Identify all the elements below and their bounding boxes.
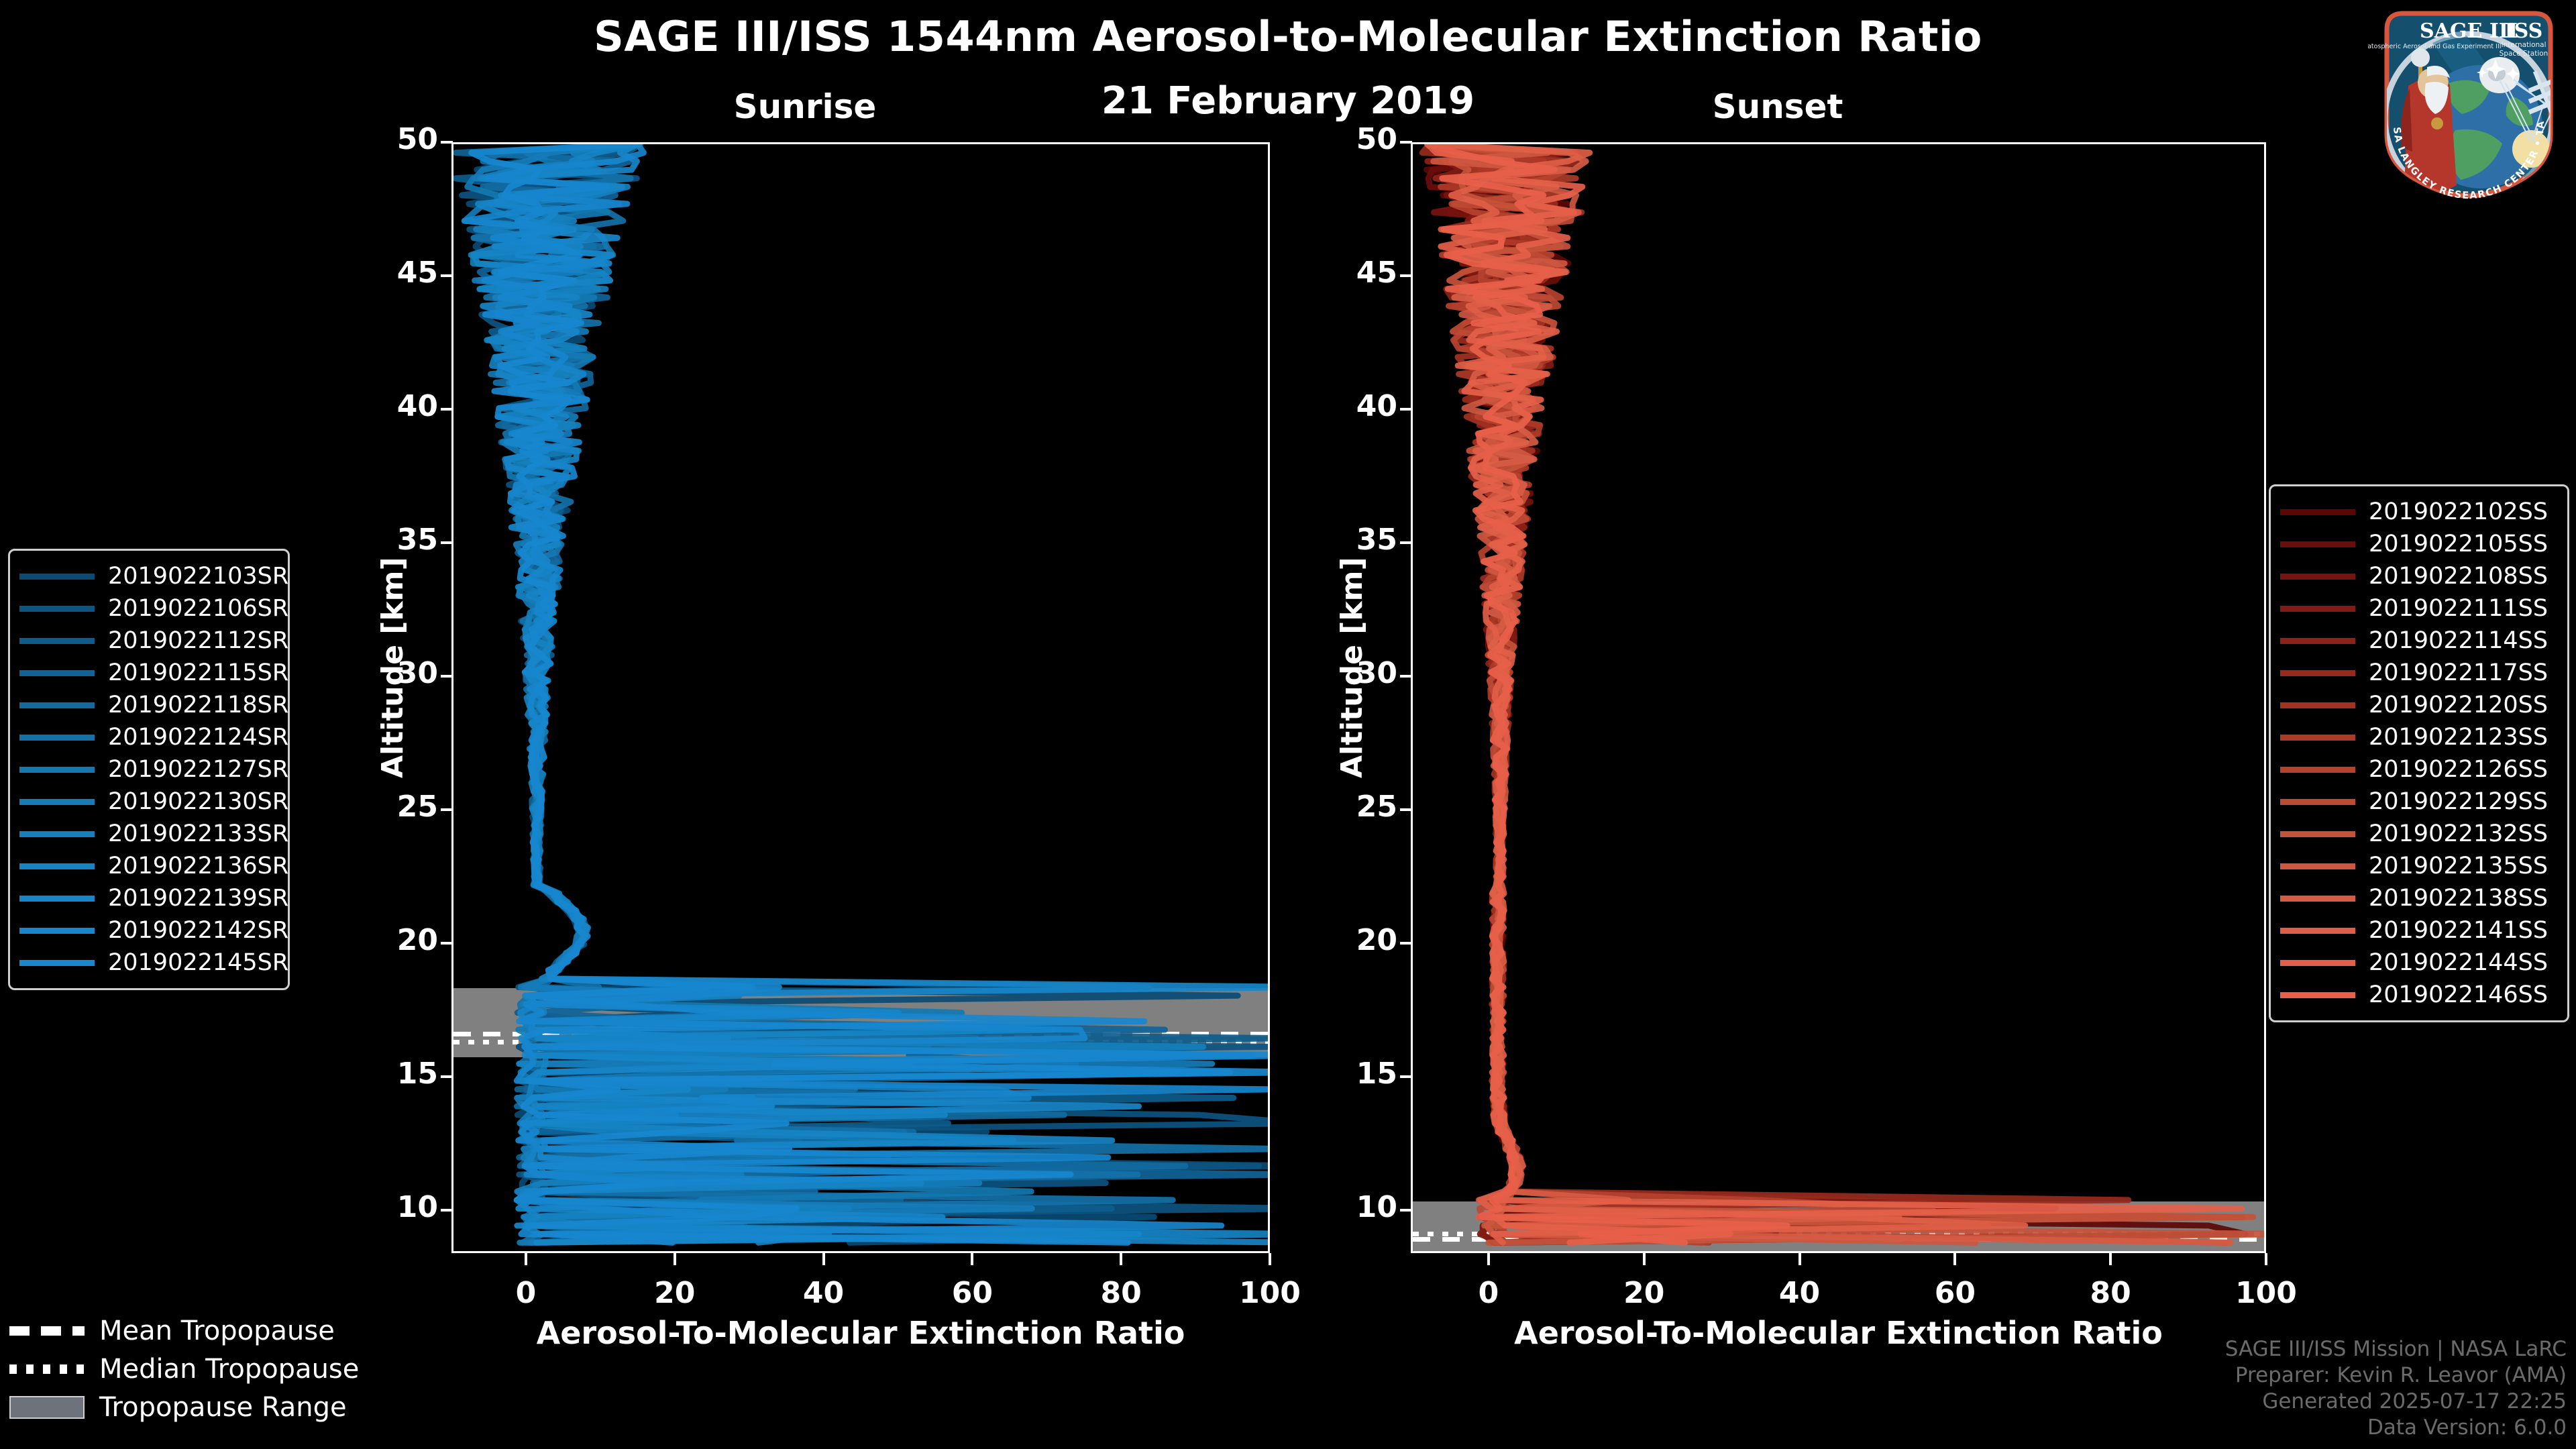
legend-item-label: 2019022117SS	[2369, 659, 2548, 686]
legend-item[interactable]: 2019022111SS	[2280, 592, 2554, 625]
legend-item-label: 2019022111SS	[2369, 595, 2548, 622]
y-axis-tick-label-ss: 45	[1324, 256, 1397, 290]
legend-color-swatch	[2280, 638, 2355, 644]
y-axis-tick-mark	[1400, 141, 1412, 144]
legend-item[interactable]: 2019022127SR	[19, 753, 274, 786]
legend-item[interactable]: 2019022124SR	[19, 721, 274, 753]
x-axis-tick-label-ss: 60	[1915, 1276, 1995, 1310]
logo-subtitle-right-2: Space Station	[2500, 50, 2548, 58]
legend-item[interactable]: 2019022117SS	[2280, 657, 2554, 689]
legend-item-label: 2019022133SR	[108, 820, 288, 847]
plot-area-sunrise	[451, 142, 1270, 1253]
legend-item[interactable]: 2019022139SR	[19, 882, 274, 914]
legend-item[interactable]: 2019022144SS	[2280, 947, 2554, 979]
x-axis-tick-label-sr: 80	[1081, 1276, 1161, 1310]
y-axis-tick-label-sr: 15	[364, 1057, 438, 1091]
y-axis-tick-label-ss: 20	[1324, 923, 1397, 957]
footer-line-version: Data Version: 6.0.0	[2225, 1415, 2567, 1441]
x-axis-tick-label-ss: 80	[2070, 1276, 2151, 1310]
legend-color-swatch	[19, 606, 95, 612]
tropopause-legend-swatch-box	[9, 1396, 85, 1419]
y-axis-tick-mark	[1400, 675, 1412, 678]
legend-item[interactable]: 2019022102SS	[2280, 496, 2554, 528]
legend-color-swatch	[2280, 606, 2355, 612]
y-axis-tick-label-sr: 35	[364, 523, 438, 557]
legend-item[interactable]: 2019022129SS	[2280, 786, 2554, 818]
legend-color-swatch	[19, 767, 95, 773]
legend-item[interactable]: 2019022108SS	[2280, 560, 2554, 592]
profile-line	[1428, 144, 2230, 1242]
tropopause-legend-item: Mean Tropopause	[9, 1311, 359, 1350]
y-axis-tick-label-ss: 25	[1324, 790, 1397, 824]
x-axis-tick-mark	[674, 1253, 676, 1265]
legend-item-label: 2019022129SS	[2369, 788, 2548, 815]
y-axis-tick-mark	[1400, 274, 1412, 277]
y-axis-tick-mark	[441, 541, 453, 544]
y-axis-tick-mark	[441, 942, 453, 945]
legend-sunrise[interactable]: 2019022103SR2019022106SR2019022112SR2019…	[8, 549, 290, 990]
legend-item[interactable]: 2019022123SS	[2280, 721, 2554, 753]
logo-subtitle-right-1: International	[2501, 41, 2546, 49]
logo-title-iss: ISS	[2505, 19, 2543, 43]
y-axis-tick-label-ss: 35	[1324, 523, 1397, 557]
y-axis-tick-label-ss: 30	[1324, 656, 1397, 690]
legend-item-label: 2019022114SS	[2369, 627, 2548, 654]
legend-item-label: 2019022142SR	[108, 917, 288, 944]
x-axis-tick-label-sr: 60	[932, 1276, 1012, 1310]
legend-color-swatch	[2280, 541, 2355, 547]
legend-color-swatch	[2280, 863, 2355, 869]
tropopause-legend-swatch-dash	[9, 1326, 85, 1336]
legend-item[interactable]: 2019022114SS	[2280, 625, 2554, 657]
legend-sunset[interactable]: 2019022102SS2019022105SS2019022108SS2019…	[2269, 484, 2569, 1022]
y-axis-tick-label-sr: 40	[364, 389, 438, 423]
legend-color-swatch	[19, 799, 95, 805]
legend-item-label: 2019022135SS	[2369, 853, 2548, 879]
y-axis-tick-label-ss: 10	[1324, 1190, 1397, 1224]
legend-color-swatch	[19, 896, 95, 902]
tropopause-legend-item: Tropopause Range	[9, 1388, 359, 1426]
y-axis-tick-mark	[1400, 808, 1412, 811]
legend-tropopause: Mean TropopauseMedian TropopauseTropopau…	[9, 1311, 359, 1426]
legend-color-swatch	[19, 574, 95, 580]
y-axis-tick-mark	[1400, 942, 1412, 945]
x-axis-tick-mark	[1799, 1253, 1801, 1265]
legend-color-swatch	[19, 670, 95, 676]
legend-item-label: 2019022106SR	[108, 595, 288, 622]
legend-color-swatch	[2280, 509, 2355, 515]
legend-color-swatch	[19, 831, 95, 837]
legend-item-label: 2019022127SR	[108, 756, 288, 783]
sage-iii-iss-mission-patch-icon: SAGE III ISS Stratospheric Aerosol and G…	[2368, 3, 2569, 204]
legend-item-label: 2019022118SR	[108, 692, 288, 718]
x-axis-tick-label-ss: 20	[1604, 1276, 1684, 1310]
legend-color-swatch	[2280, 896, 2355, 902]
legend-item-label: 2019022126SS	[2369, 756, 2548, 783]
x-axis-tick-mark	[2109, 1253, 2112, 1265]
y-axis-tick-mark	[441, 1209, 453, 1212]
legend-item[interactable]: 2019022130SR	[19, 786, 274, 818]
legend-color-swatch	[2280, 670, 2355, 676]
y-axis-tick-mark	[1400, 541, 1412, 544]
y-axis-tick-mark	[441, 408, 453, 411]
y-axis-tick-label-sr: 20	[364, 923, 438, 957]
x-axis-tick-mark	[1120, 1253, 1122, 1265]
legend-item[interactable]: 2019022132SS	[2280, 818, 2554, 850]
x-axis-tick-label-ss: 40	[1760, 1276, 1840, 1310]
legend-item[interactable]: 2019022103SR	[19, 560, 274, 592]
legend-item[interactable]: 2019022135SS	[2280, 850, 2554, 882]
legend-item-label: 2019022146SS	[2369, 981, 2548, 1008]
x-axis-label-sunrise: Aerosol-To-Molecular Extinction Ratio	[451, 1315, 1270, 1351]
legend-item-label: 2019022130SR	[108, 788, 288, 815]
legend-item-label: 2019022105SS	[2369, 531, 2548, 557]
legend-color-swatch	[19, 638, 95, 644]
legend-item-label: 2019022103SR	[108, 563, 288, 590]
tropopause-legend-label: Median Tropopause	[99, 1354, 359, 1385]
legend-item[interactable]: 2019022138SS	[2280, 882, 2554, 914]
legend-item-label: 2019022144SS	[2369, 949, 2548, 976]
legend-item[interactable]: 2019022120SS	[2280, 689, 2554, 721]
legend-color-swatch	[19, 863, 95, 869]
legend-color-swatch	[2280, 574, 2355, 580]
y-axis-tick-mark	[441, 675, 453, 678]
legend-color-swatch	[19, 960, 95, 966]
legend-color-swatch	[19, 928, 95, 934]
footer-line-mission: SAGE III/ISS Mission | NASA LaRC	[2225, 1336, 2567, 1362]
y-axis-tick-label-sr: 50	[364, 122, 438, 156]
legend-color-swatch	[2280, 992, 2355, 998]
legend-item[interactable]: 2019022136SR	[19, 850, 274, 882]
x-axis-tick-mark	[822, 1253, 825, 1265]
panel-heading-sunset: Sunset	[1644, 87, 1912, 126]
y-axis-tick-label-sr: 10	[364, 1190, 438, 1224]
x-axis-tick-mark	[1487, 1253, 1490, 1265]
y-axis-tick-label-sr: 45	[364, 256, 438, 290]
x-axis-label-sunset: Aerosol-To-Molecular Extinction Ratio	[1411, 1315, 2266, 1351]
x-axis-tick-label-sr: 40	[784, 1276, 864, 1310]
tropopause-legend-label: Tropopause Range	[99, 1392, 347, 1423]
legend-color-swatch	[2280, 767, 2355, 773]
y-axis-tick-mark	[441, 808, 453, 811]
y-axis-tick-label-sr: 30	[364, 656, 438, 690]
legend-color-swatch	[19, 735, 95, 741]
legend-item[interactable]: 2019022145SR	[19, 947, 274, 979]
x-axis-tick-label-ss: 100	[2226, 1276, 2306, 1310]
legend-color-swatch	[2280, 735, 2355, 741]
logo-title: SAGE III	[2420, 19, 2518, 43]
footer-line-preparer: Preparer: Kevin R. Leavor (AMA)	[2225, 1362, 2567, 1389]
legend-item[interactable]: 2019022133SR	[19, 818, 274, 850]
legend-item[interactable]: 2019022141SS	[2280, 914, 2554, 947]
legend-item-label: 2019022138SS	[2369, 885, 2548, 912]
legend-item-label: 2019022145SR	[108, 949, 288, 976]
legend-item[interactable]: 2019022142SR	[19, 914, 274, 947]
legend-item-label: 2019022102SS	[2369, 498, 2548, 525]
panel-heading-sunrise: Sunrise	[671, 87, 939, 126]
page-subtitle: 21 February 2019	[0, 79, 2576, 123]
legend-item-label: 2019022108SS	[2369, 563, 2548, 590]
legend-item-label: 2019022115SR	[108, 659, 288, 686]
x-axis-tick-label-sr: 100	[1230, 1276, 1310, 1310]
x-axis-tick-mark	[525, 1253, 527, 1265]
y-axis-tick-label-ss: 50	[1324, 122, 1397, 156]
legend-color-swatch	[2280, 960, 2355, 966]
x-axis-tick-label-sr: 0	[486, 1276, 566, 1310]
legend-color-swatch	[2280, 799, 2355, 805]
x-axis-tick-mark	[1953, 1253, 1956, 1265]
x-axis-tick-label-sr: 20	[635, 1276, 715, 1310]
legend-item-label: 2019022136SR	[108, 853, 288, 879]
profile-traces-sunrise	[453, 144, 1268, 1251]
legend-item[interactable]: 2019022105SS	[2280, 528, 2554, 560]
x-axis-tick-mark	[1269, 1253, 1271, 1265]
legend-color-swatch	[2280, 831, 2355, 837]
legend-item[interactable]: 2019022115SR	[19, 657, 274, 689]
legend-item-label: 2019022132SS	[2369, 820, 2548, 847]
footer-credits: SAGE III/ISS Mission | NASA LaRC Prepare…	[2225, 1336, 2567, 1441]
footer-line-generated: Generated 2025-07-17 22:25	[2225, 1389, 2567, 1415]
y-axis-tick-label-ss: 40	[1324, 389, 1397, 423]
profile-traces-sunset	[1413, 144, 2264, 1251]
x-axis-tick-mark	[1643, 1253, 1646, 1265]
legend-color-swatch	[19, 702, 95, 708]
legend-item[interactable]: 2019022112SR	[19, 625, 274, 657]
page-title: SAGE III/ISS 1544nm Aerosol-to-Molecular…	[0, 12, 2576, 61]
plot-area-sunset	[1411, 142, 2266, 1253]
y-axis-tick-mark	[1400, 408, 1412, 411]
y-axis-tick-mark	[1400, 1209, 1412, 1212]
x-axis-tick-mark	[2265, 1253, 2267, 1265]
tropopause-legend-item: Median Tropopause	[9, 1350, 359, 1388]
legend-item-label: 2019022124SR	[108, 724, 288, 751]
legend-item-label: 2019022112SR	[108, 627, 288, 654]
legend-item-label: 2019022120SS	[2369, 692, 2548, 718]
legend-color-swatch	[2280, 928, 2355, 934]
x-axis-tick-mark	[971, 1253, 973, 1265]
legend-item[interactable]: 2019022126SS	[2280, 753, 2554, 786]
y-axis-tick-mark	[441, 1075, 453, 1078]
legend-item-label: 2019022139SR	[108, 885, 288, 912]
y-axis-tick-mark	[1400, 1075, 1412, 1078]
x-axis-tick-label-ss: 0	[1448, 1276, 1529, 1310]
legend-item-label: 2019022123SS	[2369, 724, 2548, 751]
tropopause-legend-label: Mean Tropopause	[99, 1316, 335, 1346]
y-axis-tick-label-sr: 25	[364, 790, 438, 824]
legend-item[interactable]: 2019022146SS	[2280, 979, 2554, 1011]
y-axis-tick-label-ss: 15	[1324, 1057, 1397, 1091]
y-axis-tick-mark	[441, 274, 453, 277]
legend-item-label: 2019022141SS	[2369, 917, 2548, 944]
legend-item[interactable]: 2019022106SR	[19, 592, 274, 625]
tropopause-legend-swatch-dot	[9, 1364, 85, 1374]
logo-subtitle-left: Stratospheric Aerosol and Gas Experiment…	[2368, 43, 2502, 50]
y-axis-tick-mark	[441, 141, 453, 144]
legend-item[interactable]: 2019022118SR	[19, 689, 274, 721]
legend-color-swatch	[2280, 702, 2355, 708]
